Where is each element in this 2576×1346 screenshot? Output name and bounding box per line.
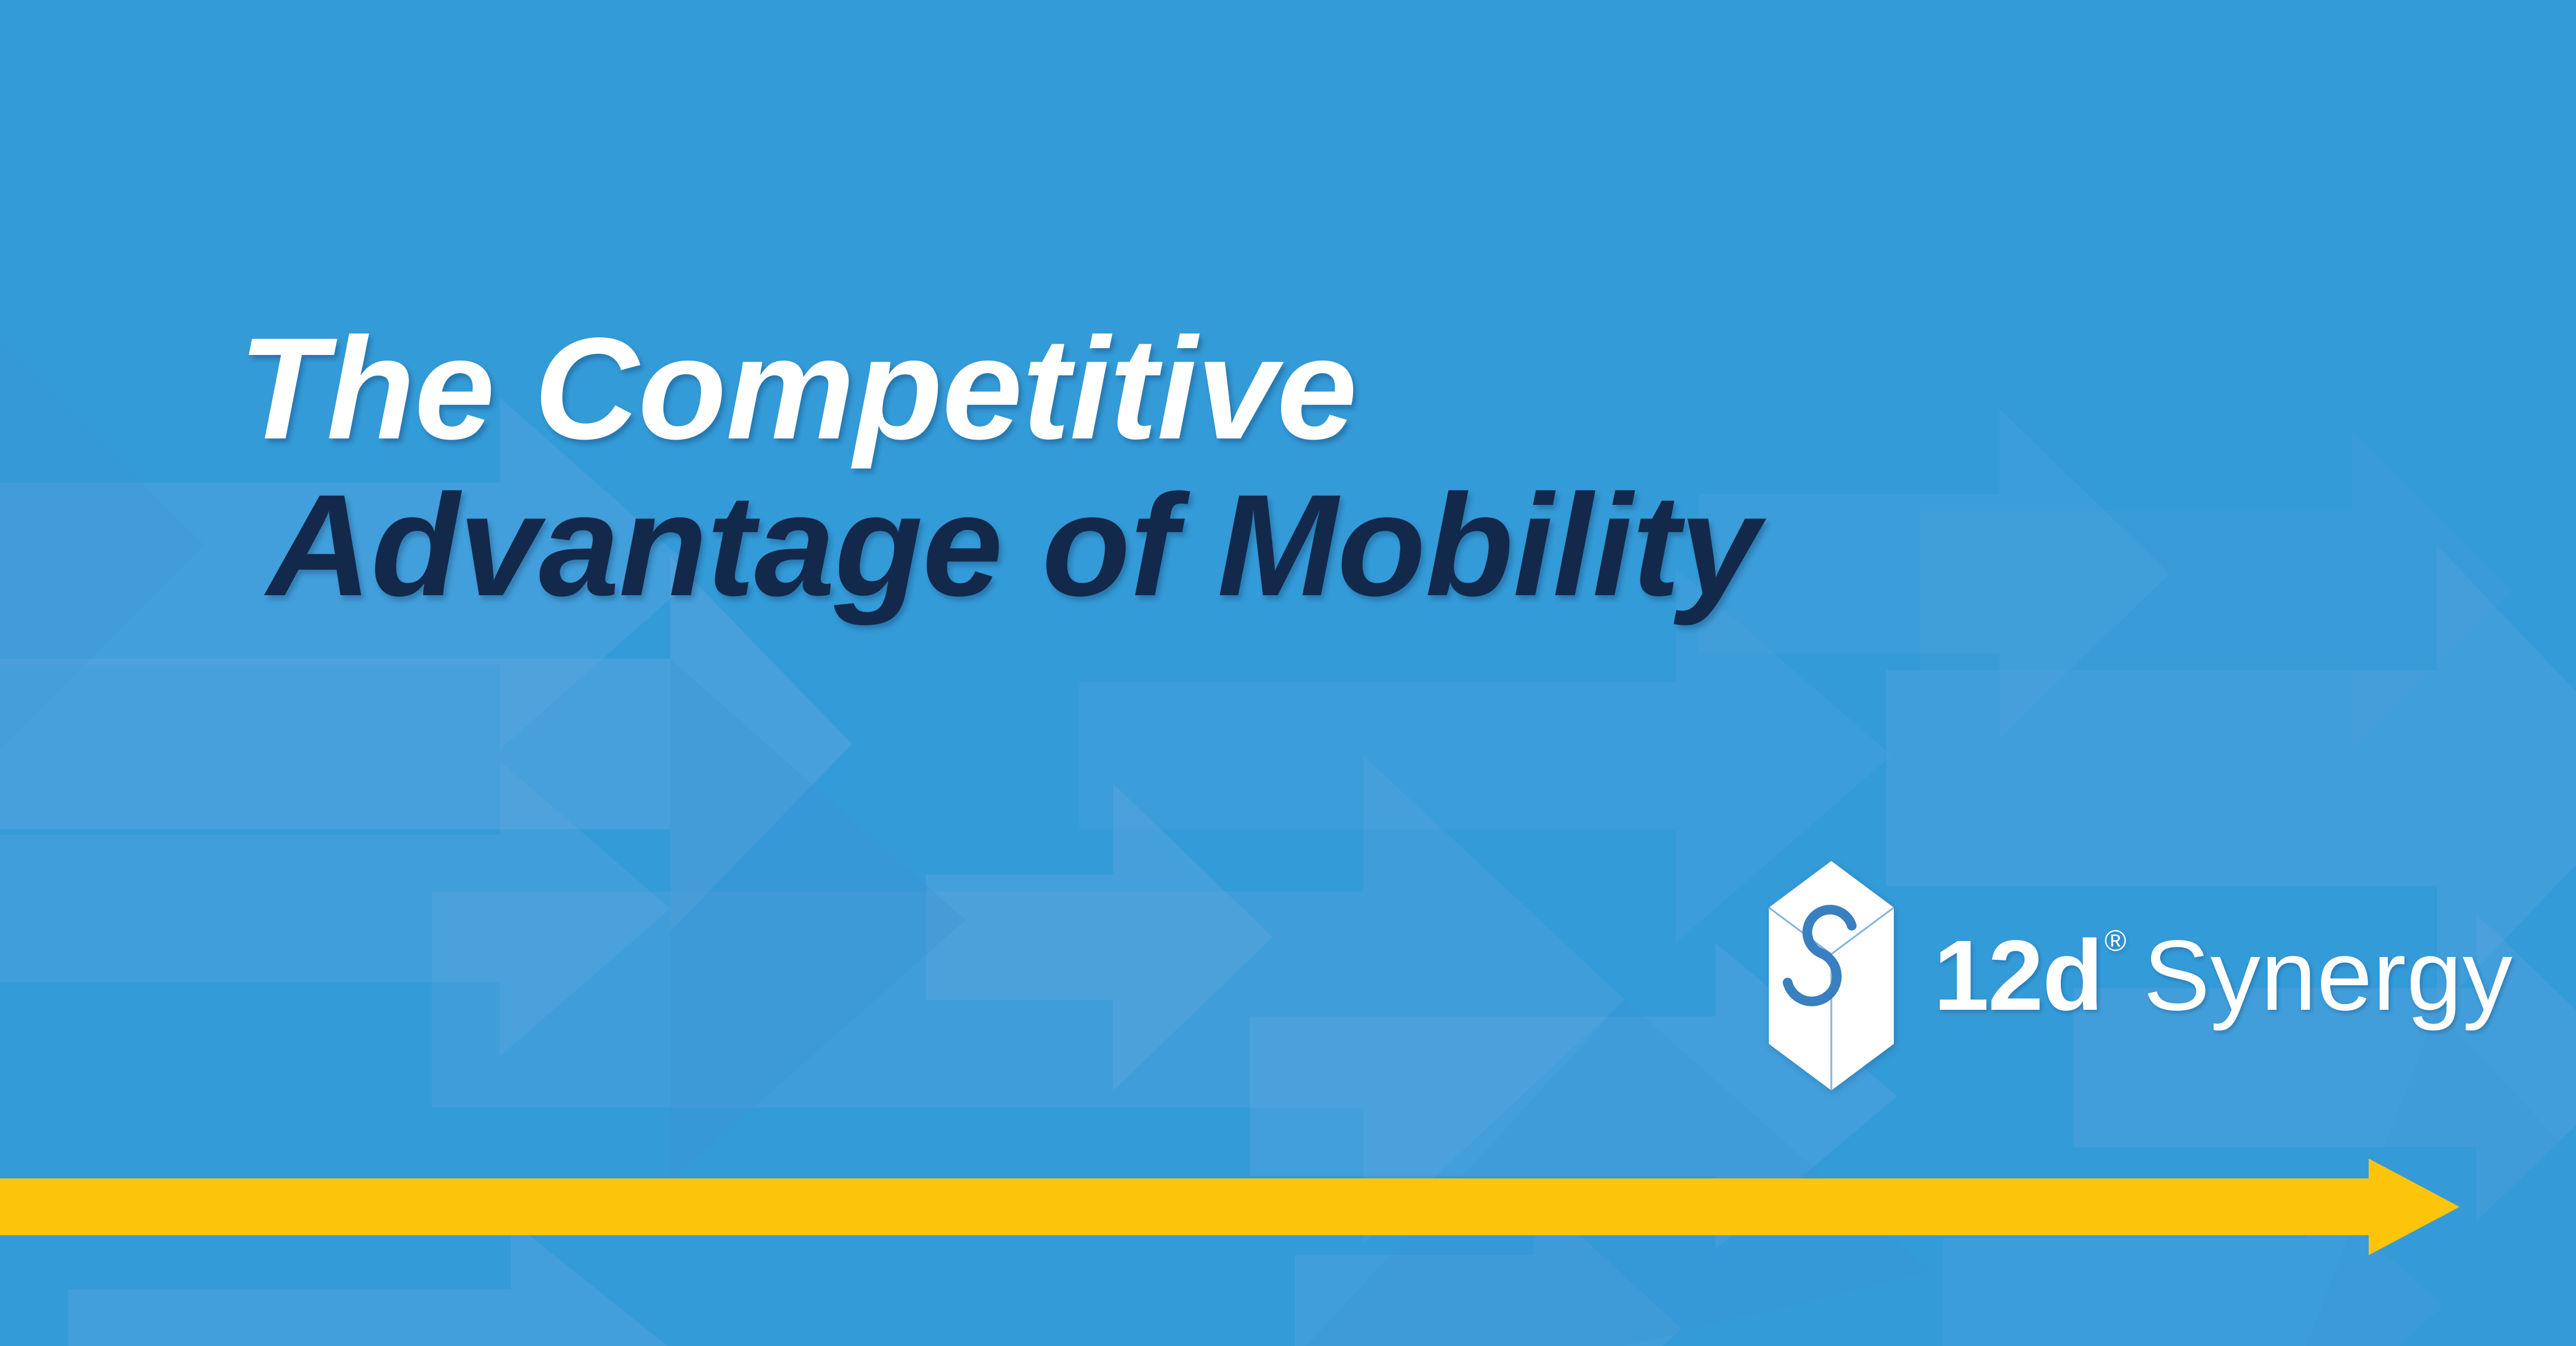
- brand-wordmark: 12d ® Synergy: [1934, 926, 2513, 1026]
- marketing-banner: The Competitive Advantage of Mobility 12…: [0, 0, 2576, 1346]
- headline-block: The Competitive Advantage of Mobility: [0, 318, 1818, 617]
- yellow-progress-arrow: [0, 1159, 2499, 1255]
- headline-line-1: The Competitive: [239, 318, 1818, 460]
- brand-name-12d: 12d: [1934, 926, 2102, 1026]
- registered-trademark-icon: ®: [2105, 926, 2126, 956]
- product-name-synergy: Synergy: [2143, 926, 2513, 1026]
- brand-logo-lockup: 12d ® Synergy: [1767, 859, 2513, 1093]
- background-arrow-pattern: [0, 0, 2576, 1346]
- yellow-arrow-shape: [0, 1159, 2460, 1255]
- 12d-synergy-crystal-s-mark-icon: [1767, 859, 1896, 1093]
- headline-line-2: Advantage of Mobility: [267, 475, 1818, 617]
